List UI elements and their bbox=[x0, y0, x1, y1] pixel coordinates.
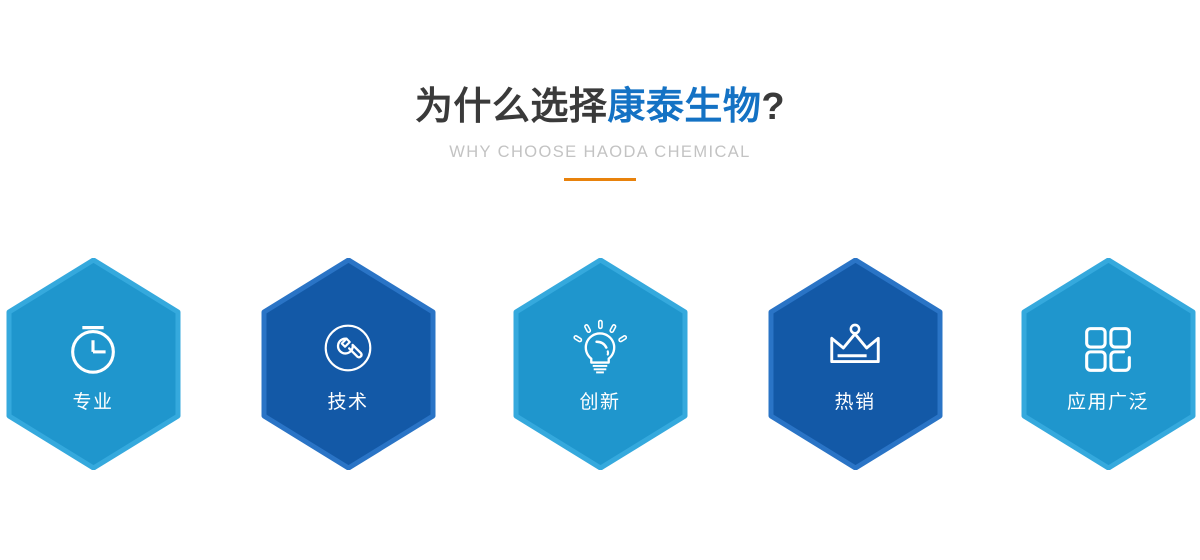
page-title-question-mark: ? bbox=[761, 86, 785, 128]
hexagon-shape bbox=[6, 258, 181, 470]
hexagon-fill bbox=[771, 260, 940, 468]
page-title: 为什么选择康泰生物? bbox=[0, 86, 1200, 130]
hexagon-shape bbox=[1021, 258, 1196, 470]
hexagon-fill bbox=[264, 260, 433, 468]
hexagon-shape bbox=[261, 258, 436, 470]
page-title-accent: 康泰生物 bbox=[607, 86, 761, 128]
hexagon-fill bbox=[9, 260, 178, 468]
title-divider-wrap bbox=[0, 178, 1200, 181]
hexagon-fill bbox=[1024, 260, 1193, 468]
hexagon-fill bbox=[516, 260, 685, 468]
title-divider bbox=[564, 178, 636, 181]
feature-hexagon-professional[interactable]: 专业 bbox=[6, 258, 181, 470]
page-title-plain: 为什么选择 bbox=[415, 86, 608, 128]
page-subtitle: WHY CHOOSE HAODA CHEMICAL bbox=[0, 143, 1200, 162]
feature-hexagon-technology[interactable]: 技术 bbox=[261, 258, 436, 470]
hexagon-shape bbox=[513, 258, 688, 470]
feature-hexagon-row: 专业 技术 bbox=[0, 258, 1200, 470]
feature-hexagon-innovation[interactable]: 创新 bbox=[513, 258, 688, 470]
feature-hexagon-bestseller[interactable]: 热销 bbox=[768, 258, 943, 470]
feature-hexagon-wide-application[interactable]: 应用广泛 bbox=[1021, 258, 1196, 470]
section-header: 为什么选择康泰生物? WHY CHOOSE HAODA CHEMICAL bbox=[0, 0, 1200, 181]
hexagon-shape bbox=[768, 258, 943, 470]
